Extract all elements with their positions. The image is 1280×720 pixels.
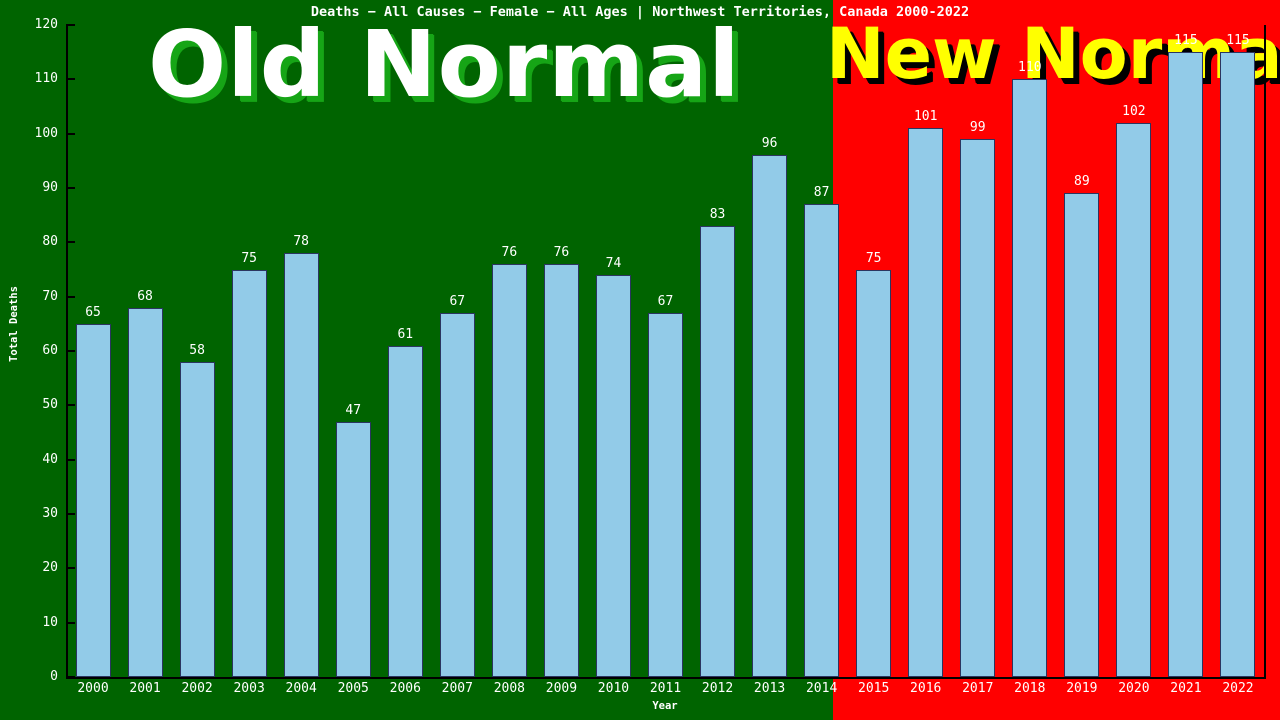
bar-value-label: 102 bbox=[1104, 104, 1164, 119]
bar[interactable] bbox=[648, 313, 683, 677]
bar-value-label: 61 bbox=[375, 327, 435, 342]
y-axis-tick bbox=[66, 241, 75, 243]
y-axis-tick bbox=[66, 24, 75, 26]
y-axis-tick bbox=[66, 350, 75, 352]
y-axis-tick bbox=[66, 567, 75, 569]
chart-title: Deaths − All Causes − Female − All Ages … bbox=[0, 4, 1280, 20]
bar[interactable] bbox=[596, 275, 631, 677]
x-axis-tick-label: 2012 bbox=[688, 681, 748, 696]
x-axis-tick-label: 2015 bbox=[844, 681, 904, 696]
bar[interactable] bbox=[960, 139, 995, 677]
bar[interactable] bbox=[284, 253, 319, 677]
bar-value-label: 89 bbox=[1052, 174, 1112, 189]
bar[interactable] bbox=[544, 264, 579, 677]
bar-value-label: 110 bbox=[1000, 60, 1060, 75]
bar-value-label: 115 bbox=[1208, 33, 1268, 48]
bar[interactable] bbox=[128, 308, 163, 677]
bar-value-label: 115 bbox=[1156, 33, 1216, 48]
y-axis-tick-label: 0 bbox=[0, 669, 58, 684]
bar[interactable] bbox=[388, 346, 423, 677]
y-axis-tick-label: 10 bbox=[0, 615, 58, 630]
bar-chart-figure: Old Normal New Normal Deaths − All Cause… bbox=[0, 0, 1280, 720]
bar[interactable] bbox=[1012, 79, 1047, 677]
bar-value-label: 58 bbox=[167, 343, 227, 358]
y-axis-tick-label: 110 bbox=[0, 71, 58, 86]
y-axis-tick-label: 80 bbox=[0, 234, 58, 249]
x-axis-tick-label: 2008 bbox=[479, 681, 539, 696]
x-axis-tick-label: 2007 bbox=[427, 681, 487, 696]
y-axis-line bbox=[66, 25, 68, 679]
x-axis-tick-label: 2005 bbox=[323, 681, 383, 696]
bar-value-label: 78 bbox=[271, 234, 331, 249]
bar[interactable] bbox=[1168, 52, 1203, 677]
y-axis-tick-label: 30 bbox=[0, 506, 58, 521]
x-axis-tick-label: 2022 bbox=[1208, 681, 1268, 696]
x-axis-tick-label: 2014 bbox=[792, 681, 852, 696]
y-axis-tick bbox=[66, 459, 75, 461]
x-axis-tick-label: 2016 bbox=[896, 681, 956, 696]
bar[interactable] bbox=[76, 324, 111, 677]
x-axis-tick-label: 2018 bbox=[1000, 681, 1060, 696]
bar-value-label: 83 bbox=[688, 207, 748, 222]
y-axis-tick-label: 70 bbox=[0, 289, 58, 304]
bar-value-label: 87 bbox=[792, 185, 852, 200]
x-axis-tick-label: 2020 bbox=[1104, 681, 1164, 696]
bar-value-label: 67 bbox=[636, 294, 696, 309]
y-axis-line-right bbox=[1264, 25, 1266, 679]
bar[interactable] bbox=[908, 128, 943, 677]
x-axis-tick-label: 2000 bbox=[63, 681, 123, 696]
bar[interactable] bbox=[1116, 123, 1151, 677]
x-axis-tick-label: 2006 bbox=[375, 681, 435, 696]
x-axis-tick-label: 2011 bbox=[636, 681, 696, 696]
y-axis-tick-label: 100 bbox=[0, 126, 58, 141]
x-axis-tick-label: 2010 bbox=[583, 681, 643, 696]
bar-value-label: 96 bbox=[740, 136, 800, 151]
bar-value-label: 47 bbox=[323, 403, 383, 418]
y-axis-tick bbox=[66, 513, 75, 515]
bar[interactable] bbox=[232, 270, 267, 678]
bar-value-label: 74 bbox=[583, 256, 643, 271]
y-axis-tick bbox=[66, 296, 75, 298]
y-axis-tick bbox=[66, 187, 75, 189]
bar-value-label: 101 bbox=[896, 109, 956, 124]
y-axis-tick-label: 40 bbox=[0, 452, 58, 467]
y-axis-tick-label: 20 bbox=[0, 560, 58, 575]
x-axis-tick-label: 2021 bbox=[1156, 681, 1216, 696]
bar[interactable] bbox=[336, 422, 371, 677]
x-axis-tick-label: 2017 bbox=[948, 681, 1008, 696]
bar[interactable] bbox=[492, 264, 527, 677]
bar[interactable] bbox=[752, 155, 787, 677]
bar[interactable] bbox=[700, 226, 735, 677]
y-axis-tick bbox=[66, 133, 75, 135]
y-axis-tick-label: 50 bbox=[0, 397, 58, 412]
y-axis-tick-label: 90 bbox=[0, 180, 58, 195]
y-axis-tick bbox=[66, 676, 75, 678]
bar[interactable] bbox=[440, 313, 475, 677]
bar-value-label: 76 bbox=[531, 245, 591, 260]
x-axis-tick-label: 2004 bbox=[271, 681, 331, 696]
y-axis-tick bbox=[66, 78, 75, 80]
y-axis-tick-label: 60 bbox=[0, 343, 58, 358]
new-normal-region-background bbox=[833, 0, 1280, 720]
bar-value-label: 65 bbox=[63, 305, 123, 320]
bar[interactable] bbox=[1064, 193, 1099, 677]
bar-value-label: 67 bbox=[427, 294, 487, 309]
y-axis-tick bbox=[66, 622, 75, 624]
bar-value-label: 75 bbox=[219, 251, 279, 266]
bar-value-label: 99 bbox=[948, 120, 1008, 135]
x-axis-tick-label: 2013 bbox=[740, 681, 800, 696]
x-axis-tick-label: 2001 bbox=[115, 681, 175, 696]
bar-value-label: 68 bbox=[115, 289, 175, 304]
bar-value-label: 76 bbox=[479, 245, 539, 260]
bar[interactable] bbox=[180, 362, 215, 677]
x-axis-tick-label: 2002 bbox=[167, 681, 227, 696]
x-axis-tick-label: 2003 bbox=[219, 681, 279, 696]
bar[interactable] bbox=[804, 204, 839, 677]
x-axis-line bbox=[66, 677, 1266, 679]
bar[interactable] bbox=[856, 270, 891, 678]
x-axis-tick-label: 2019 bbox=[1052, 681, 1112, 696]
y-axis-tick bbox=[66, 404, 75, 406]
bar[interactable] bbox=[1220, 52, 1255, 677]
x-axis-tick-label: 2009 bbox=[531, 681, 591, 696]
bar-value-label: 75 bbox=[844, 251, 904, 266]
x-axis-title: Year bbox=[615, 700, 715, 712]
